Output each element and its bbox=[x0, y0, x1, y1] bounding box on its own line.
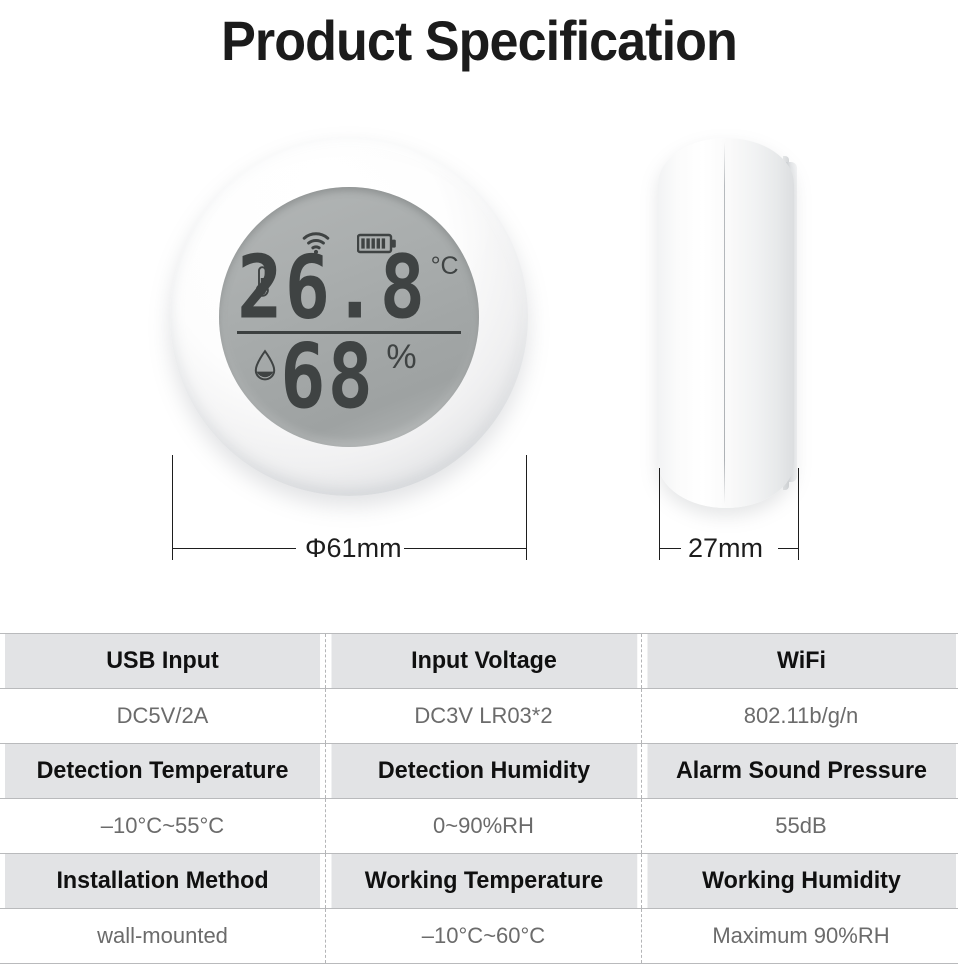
value-cell: DC5V/2A bbox=[0, 689, 326, 744]
sensor-front-view: 26.8 °C 68 % bbox=[170, 138, 528, 496]
value-cell: –10°C~55°C bbox=[0, 799, 326, 854]
diameter-extension-left bbox=[172, 455, 173, 560]
header-cell: WiFi bbox=[646, 634, 955, 689]
table-row-header-2: Detection Temperature Detection Humidity… bbox=[0, 744, 958, 799]
depth-label: 27mm bbox=[688, 533, 763, 564]
temperature-readout: 26.8 °C bbox=[219, 246, 479, 332]
humidity-readout: 68 % bbox=[219, 336, 479, 419]
diameter-line-right bbox=[404, 548, 526, 549]
table-row-header-1: USB Input Input Voltage WiFi bbox=[0, 634, 958, 689]
lcd-screen: 26.8 °C 68 % bbox=[219, 187, 479, 447]
sensor-side-view bbox=[658, 138, 803, 508]
humidity-value: 68 bbox=[280, 339, 375, 417]
value-cell: Maximum 90%RH bbox=[642, 909, 958, 964]
temperature-value: 26.8 bbox=[237, 250, 427, 327]
diameter-extension-right bbox=[526, 455, 527, 560]
header-cell: Detection Temperature bbox=[5, 744, 321, 799]
table-row-value-1: DC5V/2A DC3V LR03*2 802.11b/g/n bbox=[0, 689, 958, 744]
side-body bbox=[658, 138, 794, 508]
value-cell: 802.11b/g/n bbox=[642, 689, 958, 744]
depth-line-left bbox=[659, 548, 681, 549]
depth-line-right bbox=[778, 548, 798, 549]
header-cell: USB Input bbox=[5, 634, 321, 689]
table-row-value-2: –10°C~55°C 0~90%RH 55dB bbox=[0, 799, 958, 854]
header-cell: Working Humidity bbox=[646, 854, 955, 909]
header-cell: Input Voltage bbox=[330, 634, 637, 689]
header-cell: Alarm Sound Pressure bbox=[646, 744, 955, 799]
depth-extension-left bbox=[659, 468, 660, 560]
value-cell: wall-mounted bbox=[0, 909, 326, 964]
header-cell: Detection Humidity bbox=[330, 744, 637, 799]
diameter-line-left bbox=[172, 548, 296, 549]
table-row-value-3: wall-mounted –10°C~60°C Maximum 90%RH bbox=[0, 909, 958, 964]
page-title: Product Specification bbox=[34, 8, 925, 73]
value-cell: DC3V LR03*2 bbox=[326, 689, 642, 744]
value-cell: 0~90%RH bbox=[326, 799, 642, 854]
product-image-stage: 26.8 °C 68 % Φ61mm bbox=[0, 100, 958, 630]
value-cell: –10°C~60°C bbox=[326, 909, 642, 964]
header-cell: Installation Method bbox=[5, 854, 321, 909]
header-cell: Working Temperature bbox=[330, 854, 637, 909]
side-seam-line bbox=[724, 142, 725, 504]
value-cell: 55dB bbox=[642, 799, 958, 854]
diameter-label: Φ61mm bbox=[305, 533, 402, 564]
table-row-header-3: Installation Method Working Temperature … bbox=[0, 854, 958, 909]
specification-table: USB Input Input Voltage WiFi DC5V/2A DC3… bbox=[0, 633, 958, 964]
temperature-unit: °C bbox=[431, 252, 459, 281]
humidity-unit: % bbox=[386, 338, 416, 377]
depth-extension-right bbox=[798, 468, 799, 560]
